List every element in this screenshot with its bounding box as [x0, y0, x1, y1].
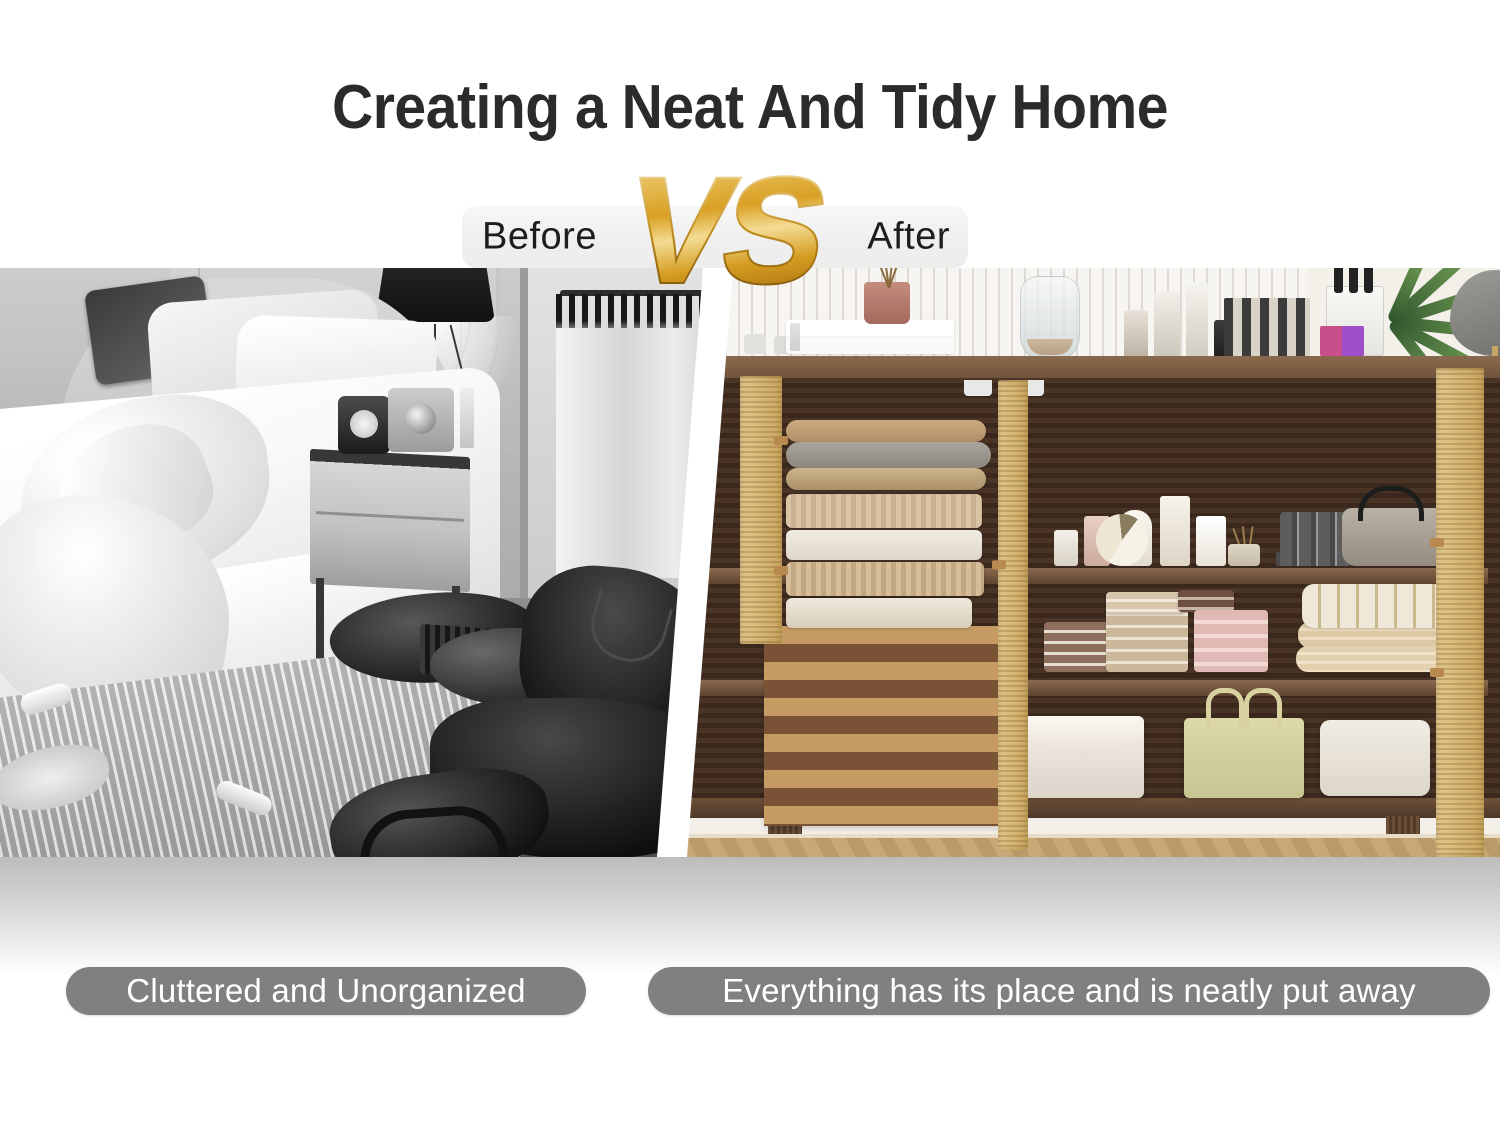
bottle-decor [460, 388, 474, 448]
rattan-door-left[interactable] [740, 376, 782, 644]
stacked-books [786, 320, 954, 354]
toiletries-shelf-items [1044, 468, 1474, 566]
rattan-door-middle[interactable] [998, 380, 1028, 851]
before-caption-text: Cluttered and Unorganized [126, 972, 525, 1010]
nail-polish-bottles [1320, 326, 1364, 356]
under-image-gradient [0, 857, 1500, 977]
candle-decor [744, 334, 766, 354]
alarm-clock-icon [338, 396, 390, 454]
cream-square-handbag [1320, 720, 1430, 796]
rattan-door-right[interactable] [1436, 368, 1484, 857]
promo-graphic: Creating a Neat And Tidy Home [0, 0, 1500, 1125]
reed-sticks [874, 268, 904, 288]
after-caption-pill: Everything has its place and is neatly p… [648, 967, 1490, 1015]
after-label: After [867, 216, 950, 259]
before-image-panel [0, 268, 722, 857]
striped-wood-drawer-front[interactable] [764, 626, 1014, 826]
before-after-banner: Before After [462, 206, 968, 268]
before-after-image-band [0, 268, 1500, 857]
handbag-shelf [998, 698, 1478, 798]
herringbone-wood-floor [668, 838, 1500, 857]
curtain [556, 328, 722, 578]
reed-diffuser [864, 282, 910, 324]
folded-linens-shelf [1044, 586, 1474, 674]
after-caption-text: Everything has its place and is neatly p… [722, 972, 1416, 1010]
white-flap-handbag [1022, 716, 1144, 798]
before-label: Before [482, 216, 597, 259]
organized-cabinet-photo [668, 268, 1500, 857]
sage-tote-handbag [1184, 718, 1304, 798]
folded-blanket-stack [786, 420, 996, 638]
messy-bedroom-photo [0, 268, 722, 857]
page-title: Creating a Neat And Tidy Home [60, 72, 1440, 143]
glass-vase [1020, 276, 1080, 362]
camera-decor [388, 388, 454, 452]
makeup-palette [1224, 298, 1310, 356]
nightstand [310, 449, 470, 592]
after-image-panel [668, 268, 1500, 857]
before-caption-pill: Cluttered and Unorganized [66, 967, 586, 1015]
